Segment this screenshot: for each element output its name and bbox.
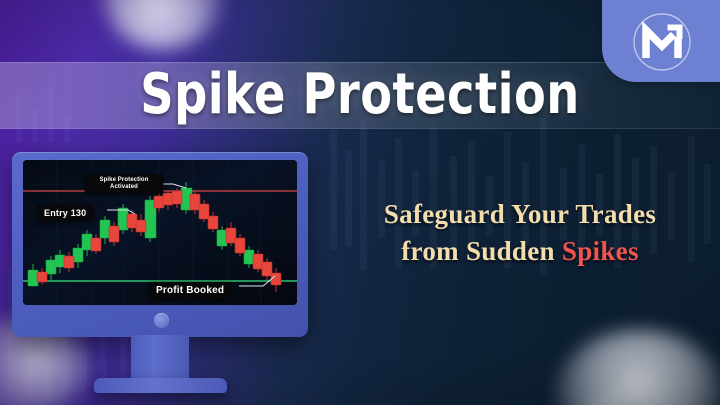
headline: Safeguard Your Trades from Sudden Spikes xyxy=(330,196,710,271)
monitor-mockup: Spike Protection Activated Entry 130 Pro… xyxy=(8,152,318,397)
m-arrow-up-circle-logo-icon xyxy=(626,6,698,78)
page-title: Spike Protection xyxy=(29,55,691,133)
monitor-power-button[interactable] xyxy=(154,313,169,328)
annotation-profit: Profit Booked xyxy=(149,282,231,299)
monitor-base xyxy=(94,378,227,393)
headline-line-1: Safeguard Your Trades xyxy=(330,196,710,233)
headline-line-2-prefix: from Sudden xyxy=(401,236,562,266)
annotation-spike-line-2: Activated xyxy=(87,184,161,191)
headline-line-2: from Sudden Spikes xyxy=(330,233,710,270)
annotation-spike-line-1: Spike Protection xyxy=(87,177,161,184)
monitor-screen: Spike Protection Activated Entry 130 Pro… xyxy=(23,160,297,305)
promo-banner: Spike Protection Safeguard Your Trades f… xyxy=(0,0,720,405)
logo-panel[interactable] xyxy=(602,0,720,82)
headline-accent-word: Spikes xyxy=(562,236,639,266)
monitor-neck xyxy=(131,335,189,381)
annotation-spike-protection: Spike Protection Activated xyxy=(85,174,163,193)
annotation-entry: Entry 130 xyxy=(37,205,93,221)
monitor-body: Spike Protection Activated Entry 130 Pro… xyxy=(12,152,308,337)
